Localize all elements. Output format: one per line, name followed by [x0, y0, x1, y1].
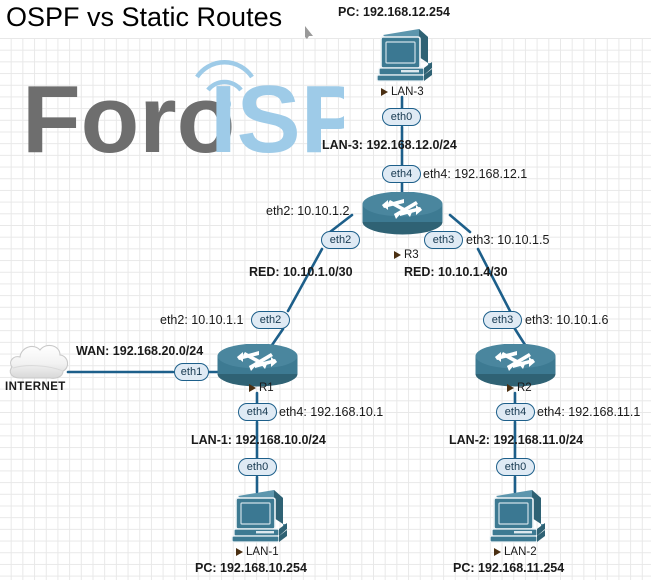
interface-pill-r1-eth1[interactable]: eth1	[174, 363, 209, 381]
interface-pill-lan2pc-eth0[interactable]: eth0	[496, 458, 535, 476]
node-label-lan3-pc: LAN-3	[381, 86, 424, 98]
address-label-lan1-pc: PC: 192.168.10.254	[195, 561, 307, 575]
ip-label-r1-eth4: eth4: 192.168.10.1	[279, 405, 383, 419]
link-layer	[0, 0, 651, 580]
pc-icon[interactable]	[486, 488, 546, 546]
collapse-triangle-icon	[394, 251, 401, 259]
network-label-red-right: RED: 10.10.1.4/30	[404, 265, 508, 279]
link-r3-r2-diagonal	[478, 249, 510, 311]
ip-label-r3-eth4: eth4: 192.168.12.1	[423, 167, 527, 181]
collapse-triangle-icon	[507, 384, 514, 392]
interface-pill-r1-eth2[interactable]: eth2	[251, 311, 290, 329]
collapse-triangle-icon	[236, 548, 243, 556]
network-label-lan2: LAN-2: 192.168.11.0/24	[449, 433, 583, 447]
collapse-triangle-icon	[249, 384, 256, 392]
interface-pill-r3-eth3[interactable]: eth3	[424, 231, 463, 249]
address-label-lan3-pc: PC: 192.168.12.254	[338, 5, 450, 19]
interface-pill-r3-eth4[interactable]: eth4	[382, 165, 421, 183]
interface-pill-r2-eth3[interactable]: eth3	[483, 311, 522, 329]
node-label-internet: INTERNET	[5, 381, 66, 393]
pc-icon[interactable]	[228, 488, 288, 546]
node-label-lan2-pc: LAN-2	[494, 546, 537, 558]
network-diagram-canvas: OSPF vs Static Routes Foro ISP	[0, 0, 651, 580]
node-label-r1: R1	[249, 382, 274, 394]
interface-pill-lan1pc-eth0[interactable]: eth0	[238, 458, 277, 476]
ip-label-r1-eth2: eth2: 10.10.1.1	[160, 313, 243, 327]
network-label-lan1: LAN-1: 192.168.10.0/24	[191, 433, 326, 447]
interface-pill-lan3pc-eth0[interactable]: eth0	[382, 108, 421, 126]
interface-pill-r3-eth2[interactable]: eth2	[321, 231, 360, 249]
node-label-lan1-pc: LAN-1	[236, 546, 279, 558]
interface-pill-r1-eth4[interactable]: eth4	[238, 403, 277, 421]
address-label-lan2-pc: PC: 192.168.11.254	[453, 561, 564, 575]
cloud-icon[interactable]	[6, 340, 71, 382]
link-r3-r1-diagonal	[288, 249, 322, 311]
interface-pill-r2-eth4[interactable]: eth4	[496, 403, 535, 421]
collapse-triangle-icon	[381, 88, 388, 96]
network-label-wan: WAN: 192.168.20.0/24	[76, 344, 203, 358]
node-label-r3: R3	[394, 249, 419, 261]
network-label-lan3: LAN-3: 192.168.12.0/24	[322, 138, 457, 152]
link-r3-eth3-stub	[450, 215, 470, 232]
pc-icon[interactable]	[373, 27, 433, 85]
ip-label-r2-eth3: eth3: 10.10.1.6	[525, 313, 608, 327]
node-label-r2: R2	[507, 382, 532, 394]
collapse-triangle-icon	[494, 548, 501, 556]
ip-label-r3-eth3: eth3: 10.10.1.5	[466, 233, 549, 247]
ip-label-r2-eth4: eth4: 192.168.11.1	[537, 405, 640, 419]
ip-label-r3-eth2: eth2: 10.10.1.2	[266, 204, 349, 218]
network-label-red-left: RED: 10.10.1.0/30	[249, 265, 353, 279]
